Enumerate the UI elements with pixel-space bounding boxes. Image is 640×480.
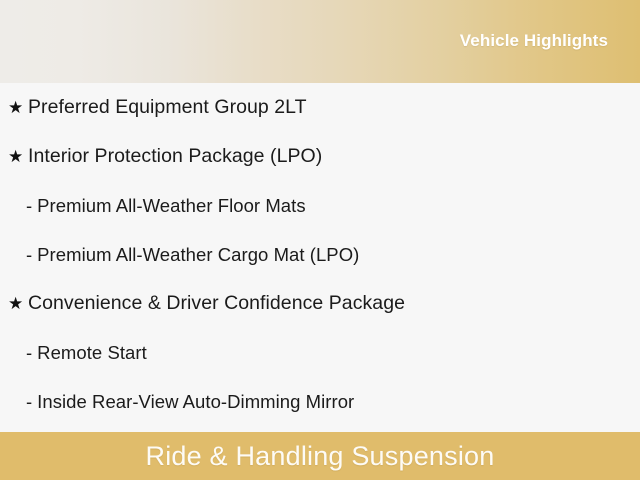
- footer-banner: Ride & Handling Suspension: [0, 432, 640, 480]
- dash-marker-icon: -: [26, 342, 32, 364]
- star-bullet-icon: ★: [8, 295, 28, 312]
- footer-title: Ride & Handling Suspension: [146, 441, 495, 472]
- dash-marker-icon: -: [26, 244, 32, 266]
- list-item-label: Interior Protection Package (LPO): [28, 145, 322, 168]
- list-item-label: Premium All-Weather Cargo Mat (LPO): [37, 244, 359, 266]
- list-item: ★Convenience & Driver Confidence Package: [0, 279, 640, 328]
- highlights-list: ★Preferred Equipment Group 2LT★Interior …: [0, 83, 640, 432]
- list-sub-item: -Premium All-Weather Cargo Mat (LPO): [0, 230, 640, 279]
- list-sub-item: -Inside Rear-View Auto-Dimming Mirror: [0, 377, 640, 426]
- dash-marker-icon: -: [26, 391, 32, 413]
- list-sub-item: -Premium All-Weather Floor Mats: [0, 181, 640, 230]
- list-item-label: Remote Start: [37, 342, 147, 364]
- list-item: ★Preferred Equipment Group 2LT: [0, 83, 640, 132]
- star-bullet-icon: ★: [8, 99, 28, 116]
- dash-marker-icon: -: [26, 195, 32, 217]
- list-sub-item: -Remote Start: [0, 328, 640, 377]
- star-bullet-icon: ★: [8, 148, 28, 165]
- list-item-label: Convenience & Driver Confidence Package: [28, 292, 405, 315]
- list-item-label: Preferred Equipment Group 2LT: [28, 96, 307, 119]
- list-item: ★Interior Protection Package (LPO): [0, 132, 640, 181]
- list-item-label: Inside Rear-View Auto-Dimming Mirror: [37, 391, 354, 413]
- header-banner: Vehicle Highlights: [0, 0, 640, 83]
- vehicle-highlights-slide: Vehicle Highlights ★Preferred Equipment …: [0, 0, 640, 480]
- page-title: Vehicle Highlights: [460, 31, 608, 51]
- list-item-label: Premium All-Weather Floor Mats: [37, 195, 305, 217]
